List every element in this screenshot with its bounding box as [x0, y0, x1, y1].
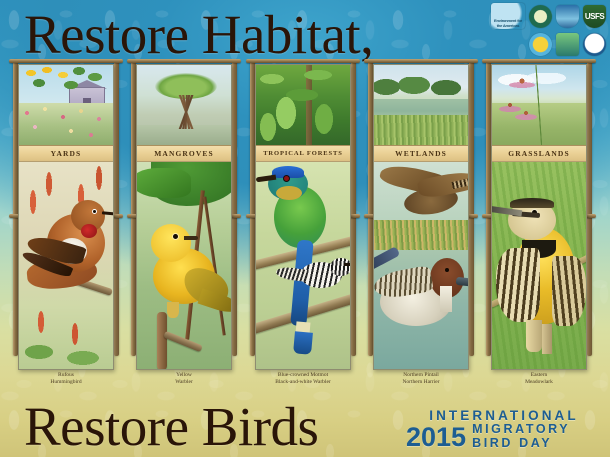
imbd-migratory-birdday-stack: MIGRATORY BIRD DAY: [472, 423, 570, 450]
bird-illustration-eastern-meadowlark: [492, 162, 586, 370]
habitat-label-mangroves: MANGROVES: [154, 149, 214, 158]
habitat-panel-yards[interactable]: YARDS Rufous Hummingbi: [18, 64, 114, 370]
bird-caption-mangroves: Yellow Warbler: [124, 372, 244, 385]
habitat-banner-row: YARDS Rufous Hummingbi: [0, 64, 610, 394]
banner-wetlands: WETLANDS: [373, 64, 469, 370]
environment-for-the-americas-logo: Environment for the Americas: [491, 3, 525, 29]
habitat-label-grasslands: GRASSLANDS: [508, 149, 569, 158]
banner-pole-right: [587, 60, 592, 356]
habitat-label-yards: YARDS: [51, 149, 82, 158]
habitat-label-plaque-grasslands: GRASSLANDS: [492, 145, 586, 162]
imbd-international-label: INTERNATIONAL: [406, 408, 602, 423]
banner-tropical-forests: TROPICAL FORESTS: [255, 64, 351, 370]
bird-illustration-pintail-and-harrier: [374, 162, 468, 370]
banner-crossbar-top: [482, 59, 596, 63]
banner-crossbar-top: [9, 59, 123, 63]
bird-name-line-2: Warbler: [124, 379, 244, 386]
banner-mangroves: MANGROVES: [136, 64, 232, 370]
sun-logo: [529, 33, 552, 56]
habitat-photo-grasslands: [492, 65, 586, 145]
usfs-logo-label: USFS: [585, 12, 604, 21]
bird-caption-yards: Rufous Hummingbird: [6, 372, 126, 385]
bird-illustration-rufous-hummingbird: [19, 162, 113, 370]
banner-pole-right: [351, 60, 356, 356]
banner-pole-right: [232, 60, 237, 356]
us-fish-and-wildlife-service-logo: [556, 5, 579, 28]
habitat-label-wetlands: WETLANDS: [395, 149, 447, 158]
bird-name-line-2: Meadowlark: [479, 379, 599, 386]
bird-caption-tropical-forests: Blue-crowned Motmot Black-and-white Warb…: [243, 372, 363, 385]
habitat-label-plaque-mangroves: MANGROVES: [137, 145, 231, 162]
imbd-migratory-label: MIGRATORY: [472, 423, 570, 437]
bureau-of-land-management-logo: [529, 5, 552, 28]
poster-title-bottom: Restore Birds: [24, 398, 318, 456]
imbd-year: 2015: [406, 423, 466, 451]
logo-row-1: Environment for the Americas USFS: [491, 3, 606, 29]
agency-logo-group: Environment for the Americas USFS: [491, 3, 606, 61]
banner-yards: YARDS: [18, 64, 114, 370]
habitat-panel-wetlands[interactable]: WETLANDS: [373, 64, 469, 370]
poster-title-top: Restore Habitat,: [24, 6, 373, 64]
bird-name-line-2: Black-and-white Warbler: [243, 379, 363, 386]
bird-illustration-motmot-and-warbler: [256, 162, 350, 370]
poster-canvas: Restore Habitat, Environment for the Ame…: [0, 0, 610, 457]
banner-crossbar-top: [127, 59, 241, 63]
bird-caption-grasslands: Eastern Meadowlark: [479, 372, 599, 385]
habitat-photo-yards: [19, 65, 113, 145]
banner-pole-right: [469, 60, 474, 356]
us-geological-survey-logo: [583, 33, 606, 56]
national-park-service-logo: [556, 33, 579, 56]
banner-grasslands: GRASSLANDS: [491, 64, 587, 370]
banner-pole-right: [114, 60, 119, 356]
efta-logo-label: Environment for the Americas: [491, 18, 525, 28]
imbd-year-row: 2015 MIGRATORY BIRD DAY: [406, 423, 602, 451]
us-forest-service-logo: USFS: [583, 5, 606, 28]
bird-caption-wetlands: Northern Pintail Northern Harrier: [361, 372, 481, 385]
habitat-label-plaque-tropical-forests: TROPICAL FORESTS: [256, 145, 350, 162]
habitat-label-tropical-forests: TROPICAL FORESTS: [263, 150, 343, 157]
habitat-panel-tropical-forests[interactable]: TROPICAL FORESTS: [255, 64, 351, 370]
habitat-panel-grasslands[interactable]: GRASSLANDS: [491, 64, 587, 370]
habitat-panel-mangroves[interactable]: MANGROVES: [136, 64, 232, 370]
imbd-birdday-label: BIRD DAY: [472, 437, 570, 451]
habitat-photo-mangroves: [137, 65, 231, 145]
bird-name-line-2: Hummingbird: [6, 379, 126, 386]
habitat-photo-tropical-forests: [256, 65, 350, 145]
bird-illustration-yellow-warbler: [137, 162, 231, 370]
logo-row-2: [491, 31, 606, 57]
habitat-label-plaque-yards: YARDS: [19, 145, 113, 162]
banner-crossbar-top: [364, 59, 478, 63]
habitat-photo-wetlands: [374, 65, 468, 145]
banner-crossbar-top: [246, 59, 360, 63]
imbd-event-block: INTERNATIONAL 2015 MIGRATORY BIRD DAY: [406, 406, 602, 452]
habitat-label-plaque-wetlands: WETLANDS: [374, 145, 468, 162]
bird-name-line-2: Northern Harrier: [361, 379, 481, 386]
